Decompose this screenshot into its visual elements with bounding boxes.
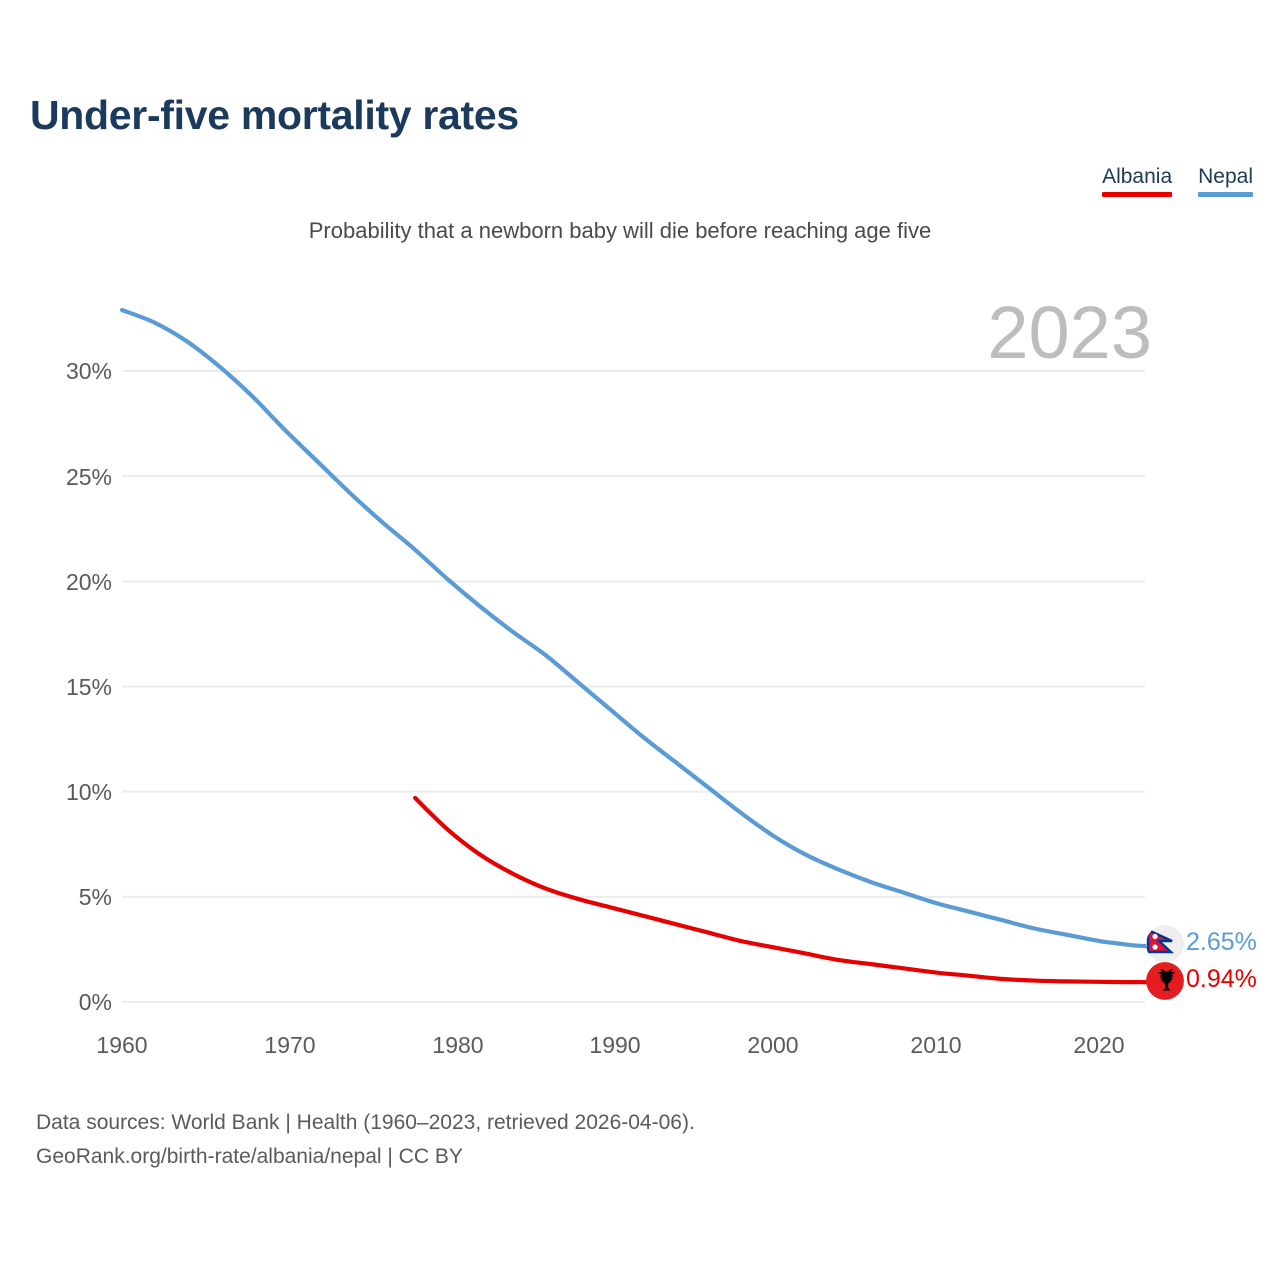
legend-label-albania: Albania [1102,164,1172,190]
legend-swatch-nepal [1198,192,1253,197]
y-tick-25: 25% [0,464,112,491]
end-label-albania: 0.94% [1186,965,1257,994]
y-tick-15: 15% [0,674,112,701]
page-title: Under-five mortality rates [30,92,519,139]
legend-label-nepal: Nepal [1198,164,1253,190]
footer-data-sources: Data sources: World Bank | Health (1960–… [36,1106,695,1140]
x-tick-2020: 2020 [1073,1032,1124,1059]
footer-attribution: GeoRank.org/birth-rate/albania/nepal | C… [36,1140,695,1174]
chart-legend: Albania Nepal [1102,164,1253,197]
chart-container: Under-five mortality rates Albania Nepal… [0,0,1280,1280]
plot-area [122,290,1145,1002]
legend-item-nepal[interactable]: Nepal [1198,164,1253,197]
y-tick-0: 0% [0,989,112,1016]
x-tick-2010: 2010 [910,1032,961,1059]
y-tick-5: 5% [0,884,112,911]
series-line-albania [415,798,1148,982]
x-tick-1960: 1960 [96,1032,147,1059]
legend-item-albania[interactable]: Albania [1102,164,1172,197]
nepal-flag-icon [1146,925,1184,963]
x-tick-1970: 1970 [264,1032,315,1059]
end-label-nepal: 2.65% [1186,928,1257,957]
x-tick-2000: 2000 [747,1032,798,1059]
albania-flag-icon [1146,962,1184,1000]
x-tick-1990: 1990 [589,1032,640,1059]
chart-subtitle: Probability that a newborn baby will die… [0,218,1280,244]
x-tick-1980: 1980 [432,1032,483,1059]
y-tick-20: 20% [0,569,112,596]
plot-svg [122,290,1145,1002]
legend-swatch-albania [1102,192,1172,197]
gridlines [122,371,1145,1002]
y-tick-30: 30% [0,358,112,385]
y-tick-10: 10% [0,779,112,806]
footer: Data sources: World Bank | Health (1960–… [36,1106,695,1174]
series-line-nepal [122,310,1148,946]
